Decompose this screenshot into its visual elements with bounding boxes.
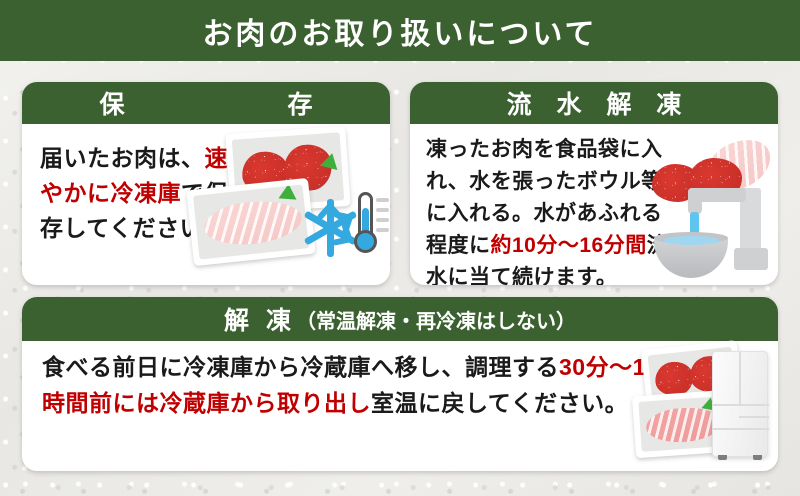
card-running-water-thaw-text-highlight: 約10分～16分間 bbox=[491, 234, 647, 257]
card-storage: 保 存 届いたお肉は、速やかに冷凍庫で保存してください。 bbox=[22, 82, 390, 285]
page-title-band: お肉のお取り扱いについて bbox=[0, 0, 800, 61]
card-defrost-text: 食べる前日に冷凍庫から冷蔵庫へ移し、調理する30分～1時間前には冷蔵庫から取り出… bbox=[42, 349, 662, 421]
card-storage-heading: 保 存 bbox=[22, 82, 390, 124]
card-running-water-thaw-text: 凍ったお肉を食品袋に入れ、水を張ったボウル等に入れる。水があふれる程度に約10分… bbox=[426, 134, 682, 285]
page-title: お肉のお取り扱いについて bbox=[202, 9, 597, 53]
card-defrost-heading-sub: （常温解凍・再冷凍はしない） bbox=[296, 305, 576, 334]
thermometer-icon bbox=[352, 192, 390, 258]
refrigerator-icon bbox=[712, 351, 768, 457]
card-defrost-heading: 解 凍（常温解凍・再冷凍はしない） bbox=[22, 297, 778, 341]
card-storage-text-part1: 届いたお肉は、 bbox=[40, 145, 205, 171]
card-defrost-text-part1: 食べる前日に冷凍庫から冷蔵庫へ移し、調理する bbox=[42, 354, 559, 380]
meat-tray-pork-illustration bbox=[190, 184, 312, 260]
card-defrost-heading-main: 解 凍 bbox=[224, 301, 296, 337]
card-running-water-thaw: 流 水 解 凍 凍ったお肉を食品袋に入れ、水を張ったボウル等に入れる。水があふれ… bbox=[410, 82, 778, 285]
card-defrost: 解 凍（常温解凍・再冷凍はしない） 食べる前日に冷凍庫から冷蔵庫へ移し、調理する… bbox=[22, 297, 778, 471]
card-running-water-thaw-heading: 流 水 解 凍 bbox=[410, 82, 778, 124]
card-storage-body: 届いたお肉は、速やかに冷凍庫で保存してください。 bbox=[22, 124, 390, 285]
card-defrost-text-part2: 室温に戻してください。 bbox=[371, 390, 628, 416]
faucet-bowl-icon bbox=[654, 186, 778, 282]
card-running-water-thaw-body: 凍ったお肉を食品袋に入れ、水を張ったボウル等に入れる。水があふれる程度に約10分… bbox=[410, 124, 778, 285]
card-defrost-body: 食べる前日に冷凍庫から冷蔵庫へ移し、調理する30分～1時間前には冷蔵庫から取り出… bbox=[22, 341, 778, 471]
